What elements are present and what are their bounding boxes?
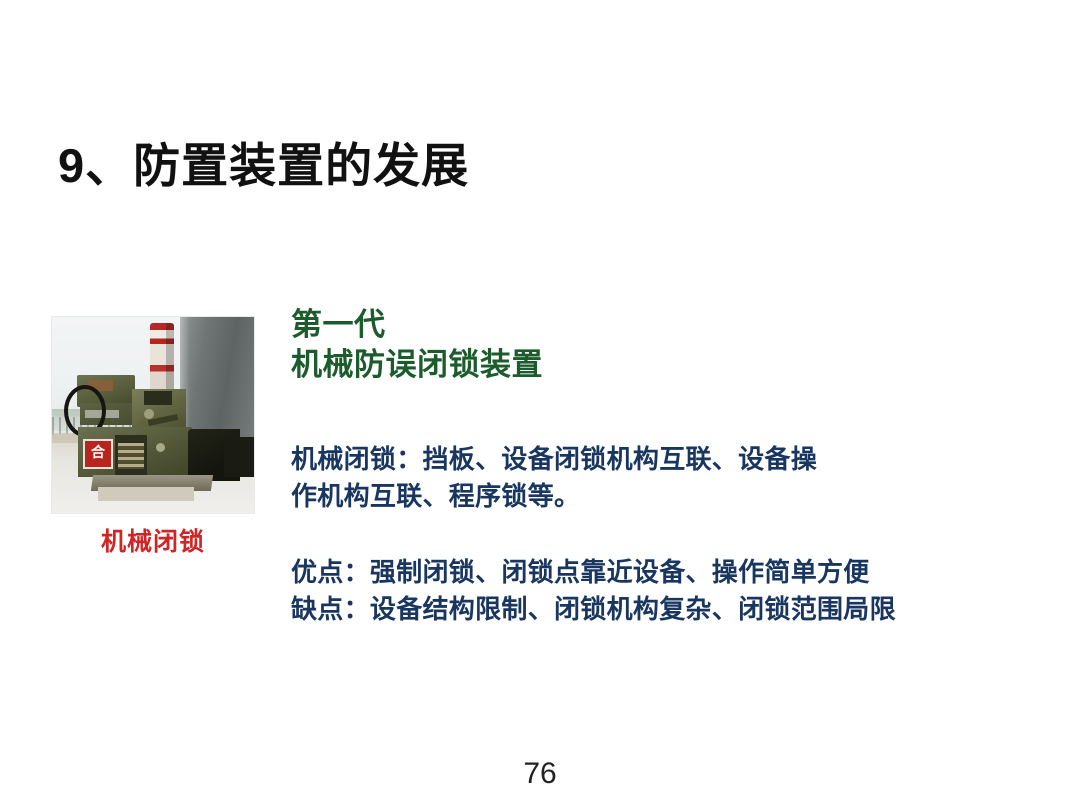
page-title: 9、防置装置的发展: [58, 139, 469, 193]
mechanical-interlock-line-2: 作机构互联、程序锁等。: [291, 478, 817, 515]
generation-heading-line-1: 第一代: [291, 305, 543, 345]
pros-cons-block: 优点：强制闭锁、闭锁点靠近设备、操作简单方便 缺点：设备结构限制、闭锁机构复杂、…: [291, 554, 896, 628]
photo-caption: 机械闭锁: [52, 522, 254, 558]
mechanical-interlock-paragraph: 机械闭锁：挡板、设备闭锁机构互联、设备操 作机构互联、程序锁等。: [291, 441, 817, 515]
photo-internal-bars: [118, 443, 144, 469]
page-number: 76: [0, 757, 1080, 791]
photo-dark-assembly-right: [224, 437, 254, 477]
photo-linkage-slot: [144, 391, 172, 405]
generation-heading-line-2: 机械防误闭锁装置: [291, 345, 543, 385]
photo-base-lower: [98, 487, 194, 501]
mechanical-interlock-photo: 合: [52, 317, 254, 513]
photo-bolt: [156, 443, 165, 452]
mechanical-interlock-line-1: 机械闭锁：挡板、设备闭锁机构互联、设备操: [291, 441, 817, 478]
disadvantages-line: 缺点：设备结构限制、闭锁机构复杂、闭锁范围局限: [291, 591, 896, 628]
generation-heading: 第一代 机械防误闭锁装置: [291, 305, 543, 384]
advantages-line: 优点：强制闭锁、闭锁点靠近设备、操作简单方便: [291, 554, 896, 591]
photo-pivot-pin: [144, 409, 154, 419]
photo-closed-state-plate: 合: [83, 439, 113, 469]
slide-canvas: 9、防置装置的发展 合 机械闭锁 第一代 机械防误闭锁装置: [0, 0, 1080, 809]
